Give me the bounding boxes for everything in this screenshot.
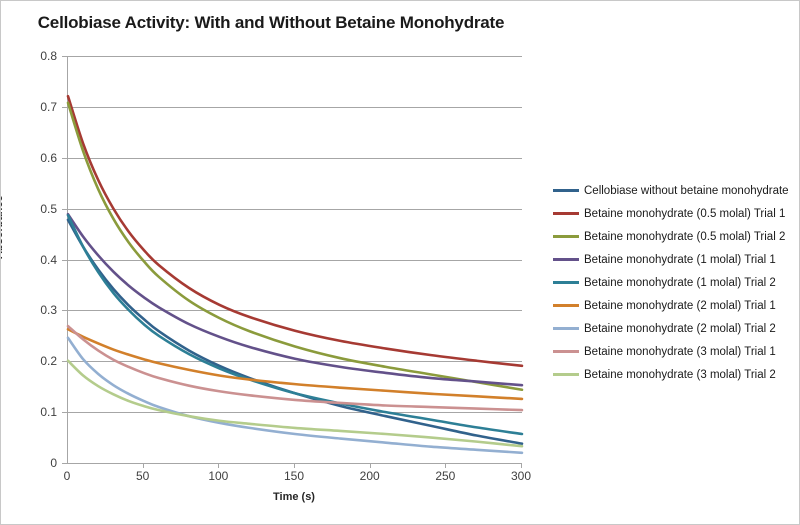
legend-color-swatch: [553, 327, 579, 330]
legend-item[interactable]: Betaine monohydrate (0.5 molal) Trial 2: [553, 225, 799, 248]
x-axis-tick-label: 0: [42, 469, 92, 483]
legend: Cellobiase without betaine monohydrateBe…: [553, 179, 799, 386]
legend-item[interactable]: Betaine monohydrate (3 molal) Trial 1: [553, 340, 799, 363]
legend-item-label: Betaine monohydrate (0.5 molal) Trial 2: [584, 231, 785, 243]
legend-item-label: Cellobiase without betaine monohydrate: [584, 185, 789, 197]
legend-item-label: Betaine monohydrate (1 molal) Trial 2: [584, 277, 776, 289]
data-series-line: [68, 329, 522, 399]
legend-item[interactable]: Betaine monohydrate (1 molal) Trial 2: [553, 271, 799, 294]
y-axis-tick-label: 0.2: [13, 354, 57, 368]
legend-item[interactable]: Betaine monohydrate (2 molal) Trial 2: [553, 317, 799, 340]
page-title: Cellobiase Activity: With and Without Be…: [1, 13, 541, 33]
chart-page: Cellobiase Activity: With and Without Be…: [0, 0, 800, 525]
legend-item-label: Betaine monohydrate (3 molal) Trial 2: [584, 369, 776, 381]
x-axis-tick-label: 100: [193, 469, 243, 483]
data-series-line: [68, 103, 522, 390]
legend-color-swatch: [553, 304, 579, 307]
legend-color-swatch: [553, 235, 579, 238]
x-axis-title: Time (s): [67, 491, 521, 503]
legend-color-swatch: [553, 258, 579, 261]
y-axis-tick-label: 0.6: [13, 151, 57, 165]
legend-item-label: Betaine monohydrate (1 molal) Trial 1: [584, 254, 776, 266]
y-axis-tick-label: 0.7: [13, 100, 57, 114]
legend-item-label: Betaine monohydrate (2 molal) Trial 2: [584, 323, 776, 335]
legend-item-label: Betaine monohydrate (2 molal) Trial 1: [584, 300, 776, 312]
data-series-line: [68, 96, 522, 366]
y-axis-tick-label: 0.3: [13, 303, 57, 317]
y-axis-title: Absorbance: [0, 195, 5, 259]
legend-item[interactable]: Betaine monohydrate (0.5 molal) Trial 1: [553, 202, 799, 225]
plot-lines: [68, 56, 522, 463]
y-axis-tick-label: 0.1: [13, 405, 57, 419]
y-axis-tick-label: 0.8: [13, 49, 57, 63]
legend-color-swatch: [553, 350, 579, 353]
legend-color-swatch: [553, 373, 579, 376]
x-axis-tick-label: 50: [118, 469, 168, 483]
y-axis-tick-label: 0: [13, 456, 57, 470]
legend-color-swatch: [553, 189, 579, 192]
legend-color-swatch: [553, 212, 579, 215]
legend-item-label: Betaine monohydrate (3 molal) Trial 1: [584, 346, 776, 358]
x-axis-tick-label: 250: [420, 469, 470, 483]
y-axis-tick-label: 0.4: [13, 253, 57, 267]
x-axis-tick-label: 200: [345, 469, 395, 483]
legend-item-label: Betaine monohydrate (0.5 molal) Trial 1: [584, 208, 785, 220]
x-axis-tick-label: 150: [269, 469, 319, 483]
legend-color-swatch: [553, 281, 579, 284]
plot-area: [67, 56, 522, 464]
legend-item[interactable]: Cellobiase without betaine monohydrate: [553, 179, 799, 202]
legend-item[interactable]: Betaine monohydrate (1 molal) Trial 1: [553, 248, 799, 271]
legend-item[interactable]: Betaine monohydrate (2 molal) Trial 1: [553, 294, 799, 317]
legend-item[interactable]: Betaine monohydrate (3 molal) Trial 2: [553, 363, 799, 386]
x-axis-tick-label: 300: [496, 469, 546, 483]
y-axis-tick-label: 0.5: [13, 202, 57, 216]
